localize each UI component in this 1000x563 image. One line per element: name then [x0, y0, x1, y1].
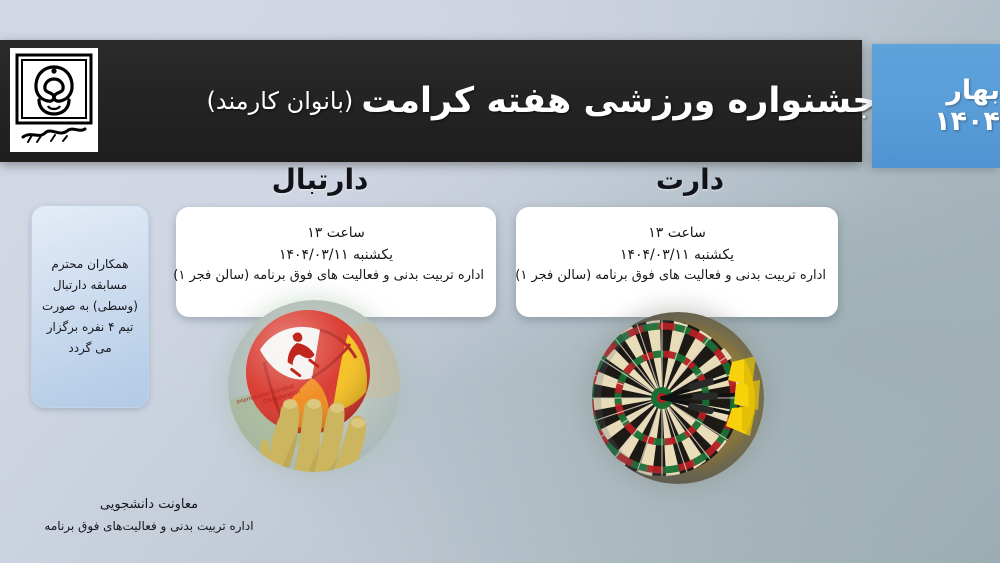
event-venue-darts: اداره تربیت بدنی و فعالیت های فوق برنامه…: [528, 266, 826, 286]
sport-heading-darts: دارت: [600, 163, 780, 196]
event-time-darts: ساعت ۱۳: [528, 223, 826, 245]
dartboard-with-darts-photo: [592, 312, 764, 484]
dartboard-illustration-icon: [592, 312, 764, 484]
handball-in-hand-photo: International Handball Confederation: [228, 300, 400, 472]
photo-disc-dodgeball: International Handball Confederation: [228, 300, 400, 472]
poster-canvas: جشنواره ورزشی هفته کرامت (بانوان کارمند)…: [0, 0, 1000, 563]
page-title-main: جشنواره ورزشی هفته کرامت: [361, 81, 877, 121]
footer: معاونت دانشجویی اداره تربیت بدنی و فعالی…: [24, 494, 274, 536]
page-title: جشنواره ورزشی هفته کرامت (بانوان کارمند): [122, 40, 862, 162]
sport-heading-dodgeball: دارتبال: [230, 163, 410, 196]
footer-line-department: اداره تربیت بدنی و فعالیت‌های فوق برنامه: [24, 516, 274, 536]
footer-line-deputy: معاونت دانشجویی: [24, 494, 274, 516]
event-date-dodgeball: یکشنبه ۱۴۰۴/۰۳/۱۱: [188, 245, 484, 267]
event-time-dodgeball: ساعت ۱۳: [188, 223, 484, 245]
university-logo: [10, 48, 98, 152]
photo-disc-darts: [592, 312, 764, 484]
note-box: همکاران محترم مسابقه دارتبال (وسطی) به ص…: [31, 205, 149, 408]
university-of-guilan-logo-icon: [15, 53, 93, 147]
handball-illustration-icon: International Handball Confederation: [228, 300, 400, 472]
season-badge: بهار ۱۴۰۴: [872, 44, 1000, 168]
header-bar: جشنواره ورزشی هفته کرامت (بانوان کارمند): [0, 40, 862, 162]
event-venue-dodgeball: اداره تربیت بدنی و فعالیت های فوق برنامه…: [188, 266, 484, 286]
event-date-darts: یکشنبه ۱۴۰۴/۰۳/۱۱: [528, 245, 826, 267]
page-title-subtitle: (بانوان کارمند): [207, 87, 354, 115]
note-text: همکاران محترم مسابقه دارتبال (وسطی) به ص…: [32, 254, 148, 359]
